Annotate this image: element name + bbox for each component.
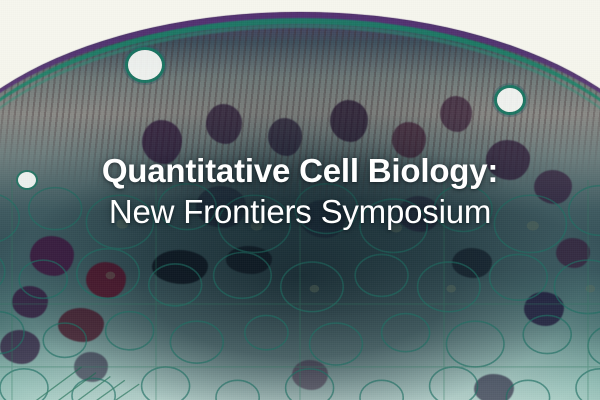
stoma-cavity-right bbox=[497, 88, 523, 112]
banner-title-line-2: New Frontiers Symposium bbox=[24, 193, 576, 230]
stoma-cavity-left bbox=[128, 50, 162, 80]
pigment-cluster bbox=[330, 100, 368, 142]
pigment-cluster bbox=[268, 118, 302, 156]
pigment-cluster bbox=[440, 96, 472, 132]
symposium-banner: Quantitative Cell Biology: New Frontiers… bbox=[0, 0, 600, 400]
banner-title-line-1: Quantitative Cell Biology: bbox=[24, 152, 576, 189]
pigment-cluster bbox=[206, 104, 242, 144]
banner-title-block: Quantitative Cell Biology: New Frontiers… bbox=[0, 152, 600, 231]
